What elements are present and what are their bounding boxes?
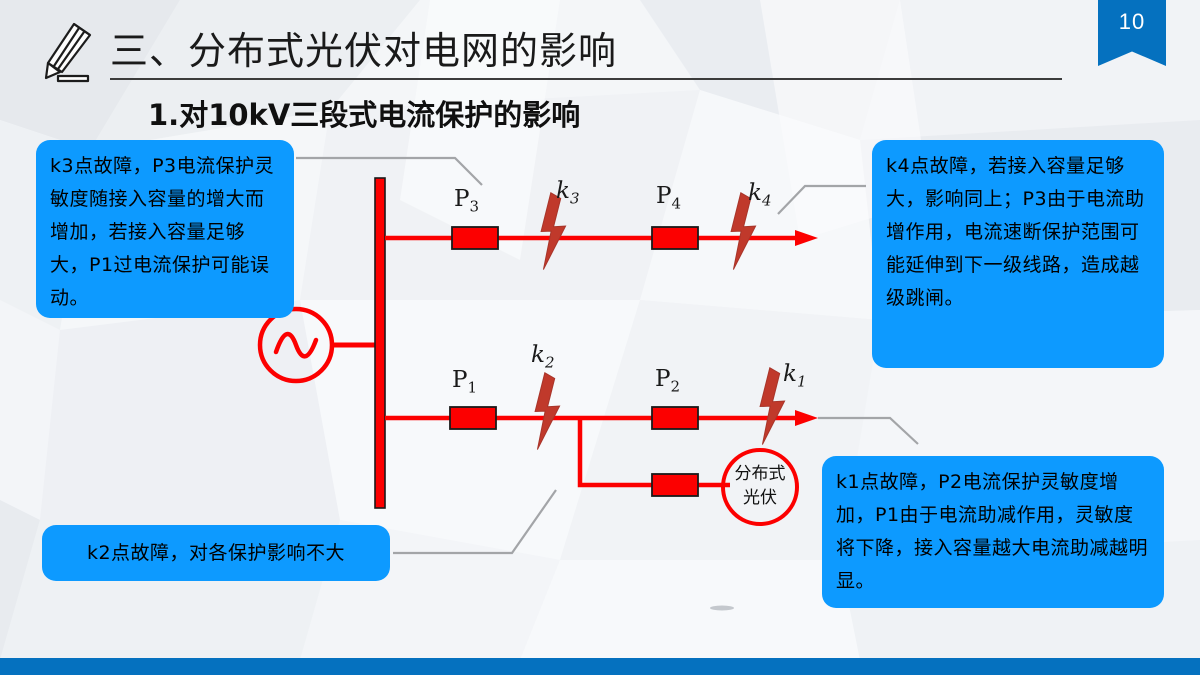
slide-canvas: 10 三、分布式光伏对电网的影响 1.对10kV三段式电流保护的影响 — [0, 0, 1200, 675]
callout-k3-fault: k3点故障，P3电流保护灵敏度随接入容量的增大而增加，若接入容量足够大，P1过电… — [36, 140, 294, 318]
label-fault-k2: k2 — [531, 342, 554, 372]
ac-source-symbol — [260, 309, 378, 381]
label-relay-p4: P4 — [656, 183, 681, 213]
callout-k1-fault: k1点故障，P2电流保护灵敏度增加，P1由于电流助减作用，灵敏度将下降，接入容量… — [822, 456, 1164, 608]
footer-bar — [0, 658, 1200, 675]
label-fault-k4: k4 — [748, 180, 771, 210]
label-relay-p1: P1 — [452, 367, 477, 397]
pv-label-line2: 光伏 — [724, 486, 796, 510]
callout-k2-fault: k2点故障，对各保护影响不大 — [42, 525, 390, 581]
label-relay-p3: P3 — [454, 186, 479, 216]
label-fault-k3: k3 — [556, 178, 579, 208]
callout-k4-fault: k4点故障，若接入容量足够大，影响同上；P3由于电流助增作用，电流速断保护范围可… — [872, 140, 1164, 368]
pv-label-line1: 分布式 — [724, 462, 796, 486]
label-fault-k1: k1 — [783, 361, 806, 391]
label-relay-p2: P2 — [655, 366, 680, 396]
pv-source-label: 分布式 光伏 — [724, 462, 796, 510]
